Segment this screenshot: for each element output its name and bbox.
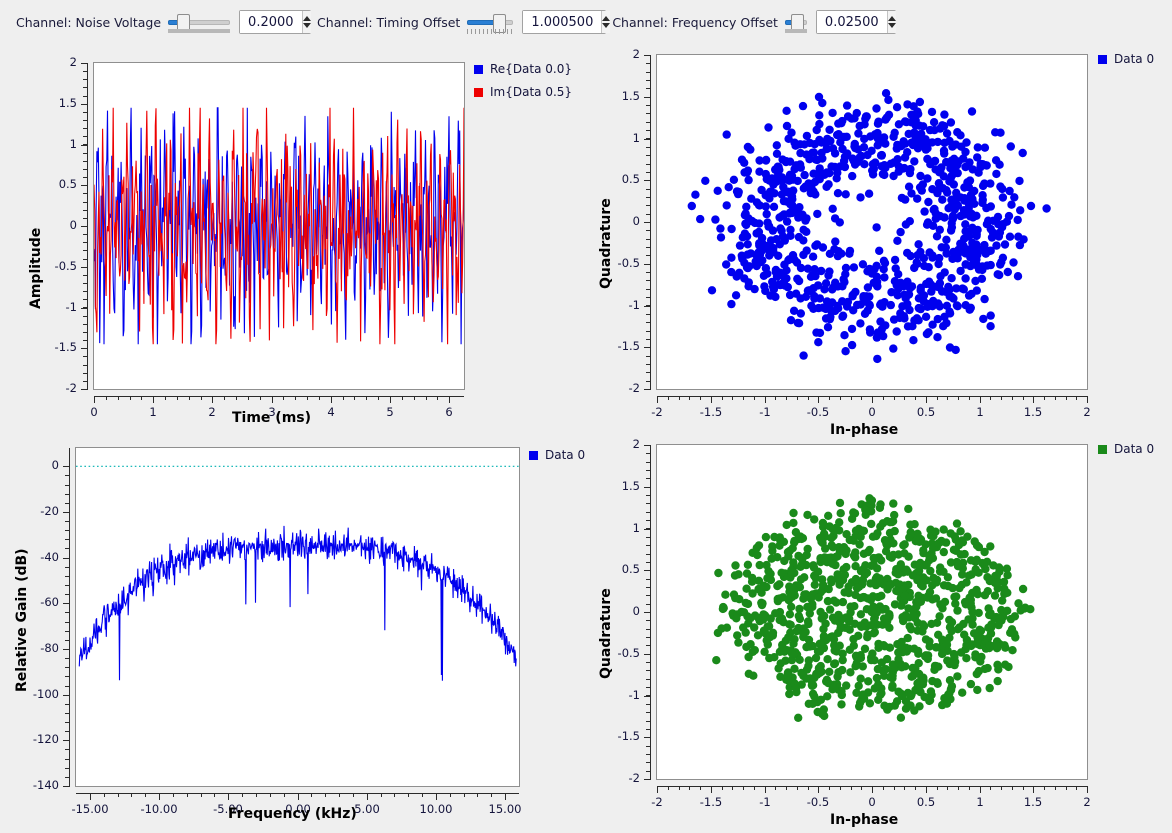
constellation-received-canvas[interactable] xyxy=(656,54,1088,390)
control-frequency-offset: Channel: Frequency Offset 0.02500 xyxy=(612,8,896,36)
frequency-offset-label: Channel: Frequency Offset xyxy=(612,15,778,30)
y-minor-tick xyxy=(83,348,87,349)
y-minor-tick xyxy=(646,503,650,504)
legend-swatch-icon xyxy=(1098,55,1107,64)
noise-voltage-spinbox[interactable]: 0.2000 xyxy=(239,10,311,34)
x-minor-tick xyxy=(883,396,884,400)
legend-swatch-icon xyxy=(529,451,538,460)
x-tick-label: 5.00 xyxy=(354,802,380,816)
y-minor-tick xyxy=(646,512,650,513)
x-tick-label: 15.00 xyxy=(489,802,522,816)
y-minor-tick xyxy=(646,595,650,596)
y-tick-label: -1.5 xyxy=(618,339,640,353)
y-minor-tick xyxy=(646,554,650,555)
x-minor-tick xyxy=(904,396,905,400)
time-domain-legend[interactable]: Re{Data 0.0} Im{Data 0.5} xyxy=(474,62,572,108)
y-minor-tick xyxy=(646,80,650,81)
y-minor-tick xyxy=(646,654,650,655)
x-tick-label: 0 xyxy=(90,405,97,419)
timing-offset-label: Channel: Timing Offset xyxy=(317,15,460,30)
x-tick-label: 0.5 xyxy=(917,405,935,419)
y-minor-tick xyxy=(646,687,650,688)
time-domain-x-label: Time (ms) xyxy=(232,410,311,426)
x-minor-tick xyxy=(214,793,215,797)
y-minor-tick xyxy=(646,314,650,315)
x-minor-tick xyxy=(689,396,690,400)
y-minor-tick xyxy=(65,475,69,476)
y-minor-tick xyxy=(646,356,650,357)
x-minor-tick xyxy=(270,793,271,797)
y-tick xyxy=(644,696,651,697)
x-minor-tick xyxy=(1001,396,1002,400)
x-minor-tick xyxy=(1012,786,1013,790)
time-domain-plot[interactable]: -2-1.5-1-0.500.511.520123456 Amplitude T… xyxy=(0,44,586,434)
x-minor-tick xyxy=(1023,786,1024,790)
y-minor-tick xyxy=(65,558,69,559)
x-minor-tick xyxy=(1055,396,1056,400)
timing-offset-slider[interactable] xyxy=(467,11,513,33)
x-minor-tick xyxy=(700,396,701,400)
x-tick-label: -2 xyxy=(651,405,662,419)
y-minor-tick xyxy=(646,339,650,340)
x-minor-tick xyxy=(106,396,107,400)
legend-item[interactable]: Data 0 xyxy=(529,448,585,462)
y-minor-tick xyxy=(83,120,87,121)
noise-voltage-stepper[interactable] xyxy=(302,11,311,33)
x-minor-tick xyxy=(422,793,423,797)
x-tick-label: -1.5 xyxy=(700,405,722,419)
x-minor-tick xyxy=(786,786,787,790)
y-tick-label: -2 xyxy=(629,771,640,785)
y-minor-tick xyxy=(83,128,87,129)
y-minor-tick xyxy=(646,105,650,106)
y-minor-tick xyxy=(83,185,87,186)
x-minor-tick xyxy=(679,786,680,790)
spectrum-plot[interactable]: 0-20-40-60-80-100-120-140-15.00-10.00-5.… xyxy=(0,434,586,833)
x-minor-tick xyxy=(797,396,798,400)
y-minor-tick xyxy=(65,521,69,522)
timing-offset-spinbox[interactable]: 1.000500 xyxy=(522,10,606,34)
x-minor-tick xyxy=(260,396,261,400)
y-tick-label: 2 xyxy=(633,47,640,61)
x-minor-tick xyxy=(915,396,916,400)
spectrum-trace xyxy=(76,448,519,786)
y-axis-line xyxy=(69,448,70,786)
x-minor-tick xyxy=(141,396,142,400)
constellation-received-plot[interactable]: -2-1.5-1-0.500.511.52-2-1.5-1-0.500.511.… xyxy=(586,44,1172,434)
x-minor-tick xyxy=(307,396,308,400)
y-minor-tick xyxy=(646,620,650,621)
spin-down-arrow-icon[interactable] xyxy=(303,23,311,28)
x-tick-label: 2 xyxy=(1083,405,1090,419)
y-minor-tick xyxy=(646,347,650,348)
time-domain-canvas[interactable] xyxy=(93,62,465,390)
y-minor-tick xyxy=(83,177,87,178)
y-minor-tick xyxy=(646,239,650,240)
constellation-received-legend[interactable]: Data 0 xyxy=(1098,52,1154,75)
y-tick-label: -1 xyxy=(629,298,640,312)
x-minor-tick xyxy=(980,396,981,400)
y-minor-tick xyxy=(646,389,650,390)
y-minor-tick xyxy=(646,272,650,273)
noise-voltage-slider[interactable] xyxy=(168,11,230,33)
y-minor-tick xyxy=(83,87,87,88)
application-window: Channel: Noise Voltage 0.2000 Channel: T… xyxy=(0,0,1172,833)
noise-voltage-value[interactable]: 0.2000 xyxy=(240,11,302,33)
x-minor-tick xyxy=(343,396,344,400)
y-minor-tick xyxy=(646,331,650,332)
y-minor-tick xyxy=(83,202,87,203)
x-minor-tick xyxy=(1076,786,1077,790)
y-minor-tick xyxy=(646,172,650,173)
x-minor-tick xyxy=(173,793,174,797)
x-minor-tick xyxy=(689,786,690,790)
x-axis-line xyxy=(94,396,464,397)
x-minor-tick xyxy=(1044,786,1045,790)
timing-offset-stepper[interactable] xyxy=(601,11,610,33)
y-minor-tick xyxy=(646,478,650,479)
spin-down-arrow-icon[interactable] xyxy=(602,23,610,28)
y-tick-label: 2 xyxy=(633,437,640,451)
x-minor-tick xyxy=(797,786,798,790)
x-minor-tick xyxy=(808,396,809,400)
control-timing-offset: Channel: Timing Offset 1.000500 xyxy=(317,8,606,36)
constellation-corrected-plot[interactable]: -2-1.5-1-0.500.511.52-2-1.5-1-0.500.511.… xyxy=(586,434,1172,833)
x-tick-label: 1 xyxy=(976,795,983,809)
y-minor-tick xyxy=(65,530,69,531)
spin-up-arrow-icon[interactable] xyxy=(888,16,896,21)
x-minor-tick xyxy=(505,793,506,797)
constellation-corrected-x-label: In-phase xyxy=(830,812,898,828)
x-tick-label: 1 xyxy=(149,405,156,419)
y-tick-label: -1 xyxy=(629,688,640,702)
constellation-received-y-label: Quadrature xyxy=(598,198,614,289)
y-minor-tick xyxy=(65,603,69,604)
x-minor-tick xyxy=(353,793,354,797)
x-minor-tick xyxy=(1066,786,1067,790)
legend-item[interactable]: Im{Data 0.5} xyxy=(474,85,572,99)
y-minor-tick xyxy=(65,658,69,659)
y-tick-label: -0.5 xyxy=(618,646,640,660)
x-minor-tick xyxy=(298,793,299,797)
y-minor-tick xyxy=(83,299,87,300)
x-tick-label: -15.00 xyxy=(71,802,108,816)
y-minor-tick xyxy=(646,247,650,248)
x-minor-tick xyxy=(937,396,938,400)
x-minor-tick xyxy=(1066,396,1067,400)
y-minor-tick xyxy=(65,631,69,632)
y-minor-tick xyxy=(65,466,69,467)
y-tick-label: 0 xyxy=(633,214,640,228)
spin-down-arrow-icon[interactable] xyxy=(888,23,896,28)
legend-label: Data 0 xyxy=(1114,52,1154,66)
x-minor-tick xyxy=(969,786,970,790)
y-minor-tick xyxy=(646,629,650,630)
y-minor-tick xyxy=(646,364,650,365)
y-minor-tick xyxy=(646,205,650,206)
y-tick-label: 2 xyxy=(70,55,77,69)
y-minor-tick xyxy=(646,470,650,471)
y-minor-tick xyxy=(646,637,650,638)
x-minor-tick xyxy=(236,396,237,400)
y-minor-tick xyxy=(65,548,69,549)
x-minor-tick xyxy=(177,396,178,400)
constellation-corrected-canvas[interactable] xyxy=(656,444,1088,780)
x-tick-label: 2 xyxy=(208,405,215,419)
y-minor-tick xyxy=(83,226,87,227)
y-minor-tick xyxy=(83,234,87,235)
y-minor-tick xyxy=(65,539,69,540)
y-tick-label: 0.5 xyxy=(59,177,77,191)
x-minor-tick xyxy=(851,786,852,790)
x-tick-label: 1.5 xyxy=(1024,405,1042,419)
frequency-offset-spinbox[interactable]: 0.02500 xyxy=(816,10,896,34)
y-minor-tick xyxy=(646,562,650,563)
y-minor-tick xyxy=(83,283,87,284)
x-minor-tick xyxy=(339,793,340,797)
x-minor-tick xyxy=(159,793,160,797)
x-minor-tick xyxy=(732,786,733,790)
x-minor-tick xyxy=(754,786,755,790)
y-minor-tick xyxy=(83,307,87,308)
x-tick-label: 6 xyxy=(445,405,452,419)
y-minor-tick xyxy=(646,721,650,722)
x-minor-tick xyxy=(786,396,787,400)
y-minor-tick xyxy=(646,72,650,73)
y-minor-tick xyxy=(83,218,87,219)
spectrum-y-label: Relative Gain (dB) xyxy=(14,548,30,692)
y-tick-label: -60 xyxy=(40,595,59,609)
x-minor-tick xyxy=(477,793,478,797)
x-minor-tick xyxy=(969,396,970,400)
x-tick-label: 4 xyxy=(327,405,334,419)
y-minor-tick xyxy=(646,122,650,123)
y-minor-tick xyxy=(646,130,650,131)
x-minor-tick xyxy=(187,793,188,797)
y-minor-tick xyxy=(646,214,650,215)
y-minor-tick xyxy=(65,585,69,586)
y-minor-tick xyxy=(83,340,87,341)
y-minor-tick xyxy=(65,512,69,513)
time-domain-traces xyxy=(94,63,464,389)
x-minor-tick xyxy=(414,396,415,400)
x-minor-tick xyxy=(1033,786,1034,790)
x-minor-tick xyxy=(861,396,862,400)
x-minor-tick xyxy=(90,793,91,797)
y-minor-tick xyxy=(65,740,69,741)
y-minor-tick xyxy=(83,259,87,260)
y-tick xyxy=(81,145,88,146)
y-minor-tick xyxy=(65,777,69,778)
y-tick-label: 1 xyxy=(633,521,640,535)
x-tick-label: 0 xyxy=(868,795,875,809)
control-noise-voltage: Channel: Noise Voltage 0.2000 xyxy=(16,8,311,36)
x-tick-label: -10.00 xyxy=(140,802,177,816)
y-minor-tick xyxy=(65,676,69,677)
y-minor-tick xyxy=(83,96,87,97)
y-minor-tick xyxy=(65,640,69,641)
y-minor-tick xyxy=(646,545,650,546)
constellation-received-points xyxy=(657,55,1087,389)
y-minor-tick xyxy=(83,71,87,72)
y-minor-tick xyxy=(83,381,87,382)
x-minor-tick xyxy=(679,396,680,400)
frequency-offset-value[interactable]: 0.02500 xyxy=(817,11,887,33)
y-tick-label: -40 xyxy=(40,550,59,564)
x-tick-label: -0.5 xyxy=(807,405,829,419)
x-minor-tick xyxy=(118,396,119,400)
slider-tickmarks xyxy=(467,29,513,34)
x-tick-label: 2 xyxy=(1083,795,1090,809)
x-minor-tick xyxy=(201,793,202,797)
x-minor-tick xyxy=(829,396,830,400)
legend-item[interactable]: Data 0 xyxy=(1098,442,1154,456)
y-minor-tick xyxy=(65,667,69,668)
y-minor-tick xyxy=(646,372,650,373)
x-minor-tick xyxy=(894,396,895,400)
x-minor-tick xyxy=(426,396,427,400)
y-minor-tick xyxy=(646,138,650,139)
y-minor-tick xyxy=(83,136,87,137)
y-minor-tick xyxy=(646,264,650,265)
spin-up-arrow-icon[interactable] xyxy=(602,16,610,21)
y-tick-label: 1 xyxy=(70,137,77,151)
spin-up-arrow-icon[interactable] xyxy=(303,16,311,21)
x-minor-tick xyxy=(732,396,733,400)
y-minor-tick xyxy=(646,97,650,98)
x-minor-tick xyxy=(947,786,948,790)
y-minor-tick xyxy=(65,786,69,787)
legend-label: Re{Data 0.0} xyxy=(490,62,572,76)
y-tick-label: -2 xyxy=(629,381,640,395)
y-tick xyxy=(644,529,651,530)
x-minor-tick xyxy=(668,786,669,790)
x-minor-tick xyxy=(256,793,257,797)
x-minor-tick xyxy=(1044,396,1045,400)
y-minor-tick xyxy=(646,679,650,680)
legend-swatch-icon xyxy=(474,88,483,97)
x-minor-tick xyxy=(700,786,701,790)
y-minor-tick xyxy=(646,729,650,730)
y-minor-tick xyxy=(65,622,69,623)
y-minor-tick xyxy=(646,230,650,231)
y-minor-tick xyxy=(646,645,650,646)
x-tick-label: 0.5 xyxy=(917,795,935,809)
x-minor-tick xyxy=(818,396,819,400)
y-minor-tick xyxy=(646,762,650,763)
x-minor-tick xyxy=(248,396,249,400)
x-minor-tick xyxy=(958,396,959,400)
x-minor-tick xyxy=(381,793,382,797)
spectrum-x-label: Frequency (kHz) xyxy=(228,806,357,822)
frequency-offset-slider[interactable] xyxy=(785,11,807,33)
y-minor-tick xyxy=(83,275,87,276)
frequency-offset-stepper[interactable] xyxy=(887,11,896,33)
y-tick-label: 0 xyxy=(70,218,77,232)
y-minor-tick xyxy=(65,704,69,705)
y-minor-tick xyxy=(65,594,69,595)
x-minor-tick xyxy=(894,786,895,790)
x-minor-tick xyxy=(904,786,905,790)
x-minor-tick xyxy=(189,396,190,400)
y-minor-tick xyxy=(646,495,650,496)
y-minor-tick xyxy=(65,759,69,760)
x-minor-tick xyxy=(1055,786,1056,790)
spectrum-canvas[interactable] xyxy=(75,447,520,787)
x-minor-tick xyxy=(201,396,202,400)
x-minor-tick xyxy=(283,396,284,400)
legend-swatch-icon xyxy=(474,65,483,74)
y-minor-tick xyxy=(65,649,69,650)
x-minor-tick xyxy=(765,396,766,400)
y-minor-tick xyxy=(65,713,69,714)
y-minor-tick xyxy=(83,324,87,325)
y-minor-tick xyxy=(646,289,650,290)
y-tick-label: -0.5 xyxy=(618,256,640,270)
y-tick-label: -1 xyxy=(66,300,77,314)
x-tick-label: 0 xyxy=(868,405,875,419)
y-minor-tick xyxy=(646,746,650,747)
x-minor-tick xyxy=(980,786,981,790)
noise-voltage-label: Channel: Noise Voltage xyxy=(16,15,161,30)
y-minor-tick xyxy=(646,255,650,256)
x-minor-tick xyxy=(228,793,229,797)
x-minor-tick xyxy=(668,396,669,400)
timing-offset-value[interactable]: 1.000500 xyxy=(523,11,601,33)
y-minor-tick xyxy=(646,63,650,64)
x-minor-tick xyxy=(808,786,809,790)
x-minor-tick xyxy=(437,396,438,400)
constellation-corrected-legend[interactable]: Data 0 xyxy=(1098,442,1154,465)
x-minor-tick xyxy=(657,786,658,790)
y-minor-tick xyxy=(83,104,87,105)
y-tick-label: 0.5 xyxy=(622,562,640,576)
x-minor-tick xyxy=(367,793,368,797)
x-minor-tick xyxy=(775,396,776,400)
x-minor-tick xyxy=(775,786,776,790)
y-minor-tick xyxy=(646,147,650,148)
x-minor-tick xyxy=(436,793,437,797)
y-minor-tick xyxy=(65,695,69,696)
x-minor-tick xyxy=(130,396,131,400)
x-minor-tick xyxy=(464,793,465,797)
y-minor-tick xyxy=(646,779,650,780)
x-minor-tick xyxy=(657,396,658,400)
y-minor-tick xyxy=(646,155,650,156)
y-minor-tick xyxy=(646,612,650,613)
y-minor-tick xyxy=(646,55,650,56)
slider-tickbar xyxy=(168,29,230,33)
y-minor-tick xyxy=(65,485,69,486)
x-minor-tick xyxy=(94,396,95,400)
legend-item[interactable]: Re{Data 0.0} xyxy=(474,62,572,76)
x-minor-tick xyxy=(722,786,723,790)
x-minor-tick xyxy=(872,396,873,400)
x-minor-tick xyxy=(449,396,450,400)
y-minor-tick xyxy=(646,88,650,89)
x-minor-tick xyxy=(915,786,916,790)
y-minor-tick xyxy=(646,381,650,382)
spectrum-legend[interactable]: Data 0 xyxy=(529,448,585,471)
y-minor-tick xyxy=(65,494,69,495)
x-minor-tick xyxy=(711,786,712,790)
y-minor-tick xyxy=(646,670,650,671)
legend-item[interactable]: Data 0 xyxy=(1098,52,1154,66)
x-minor-tick xyxy=(872,786,873,790)
x-minor-tick xyxy=(153,396,154,400)
x-minor-tick xyxy=(947,396,948,400)
y-minor-tick xyxy=(83,169,87,170)
